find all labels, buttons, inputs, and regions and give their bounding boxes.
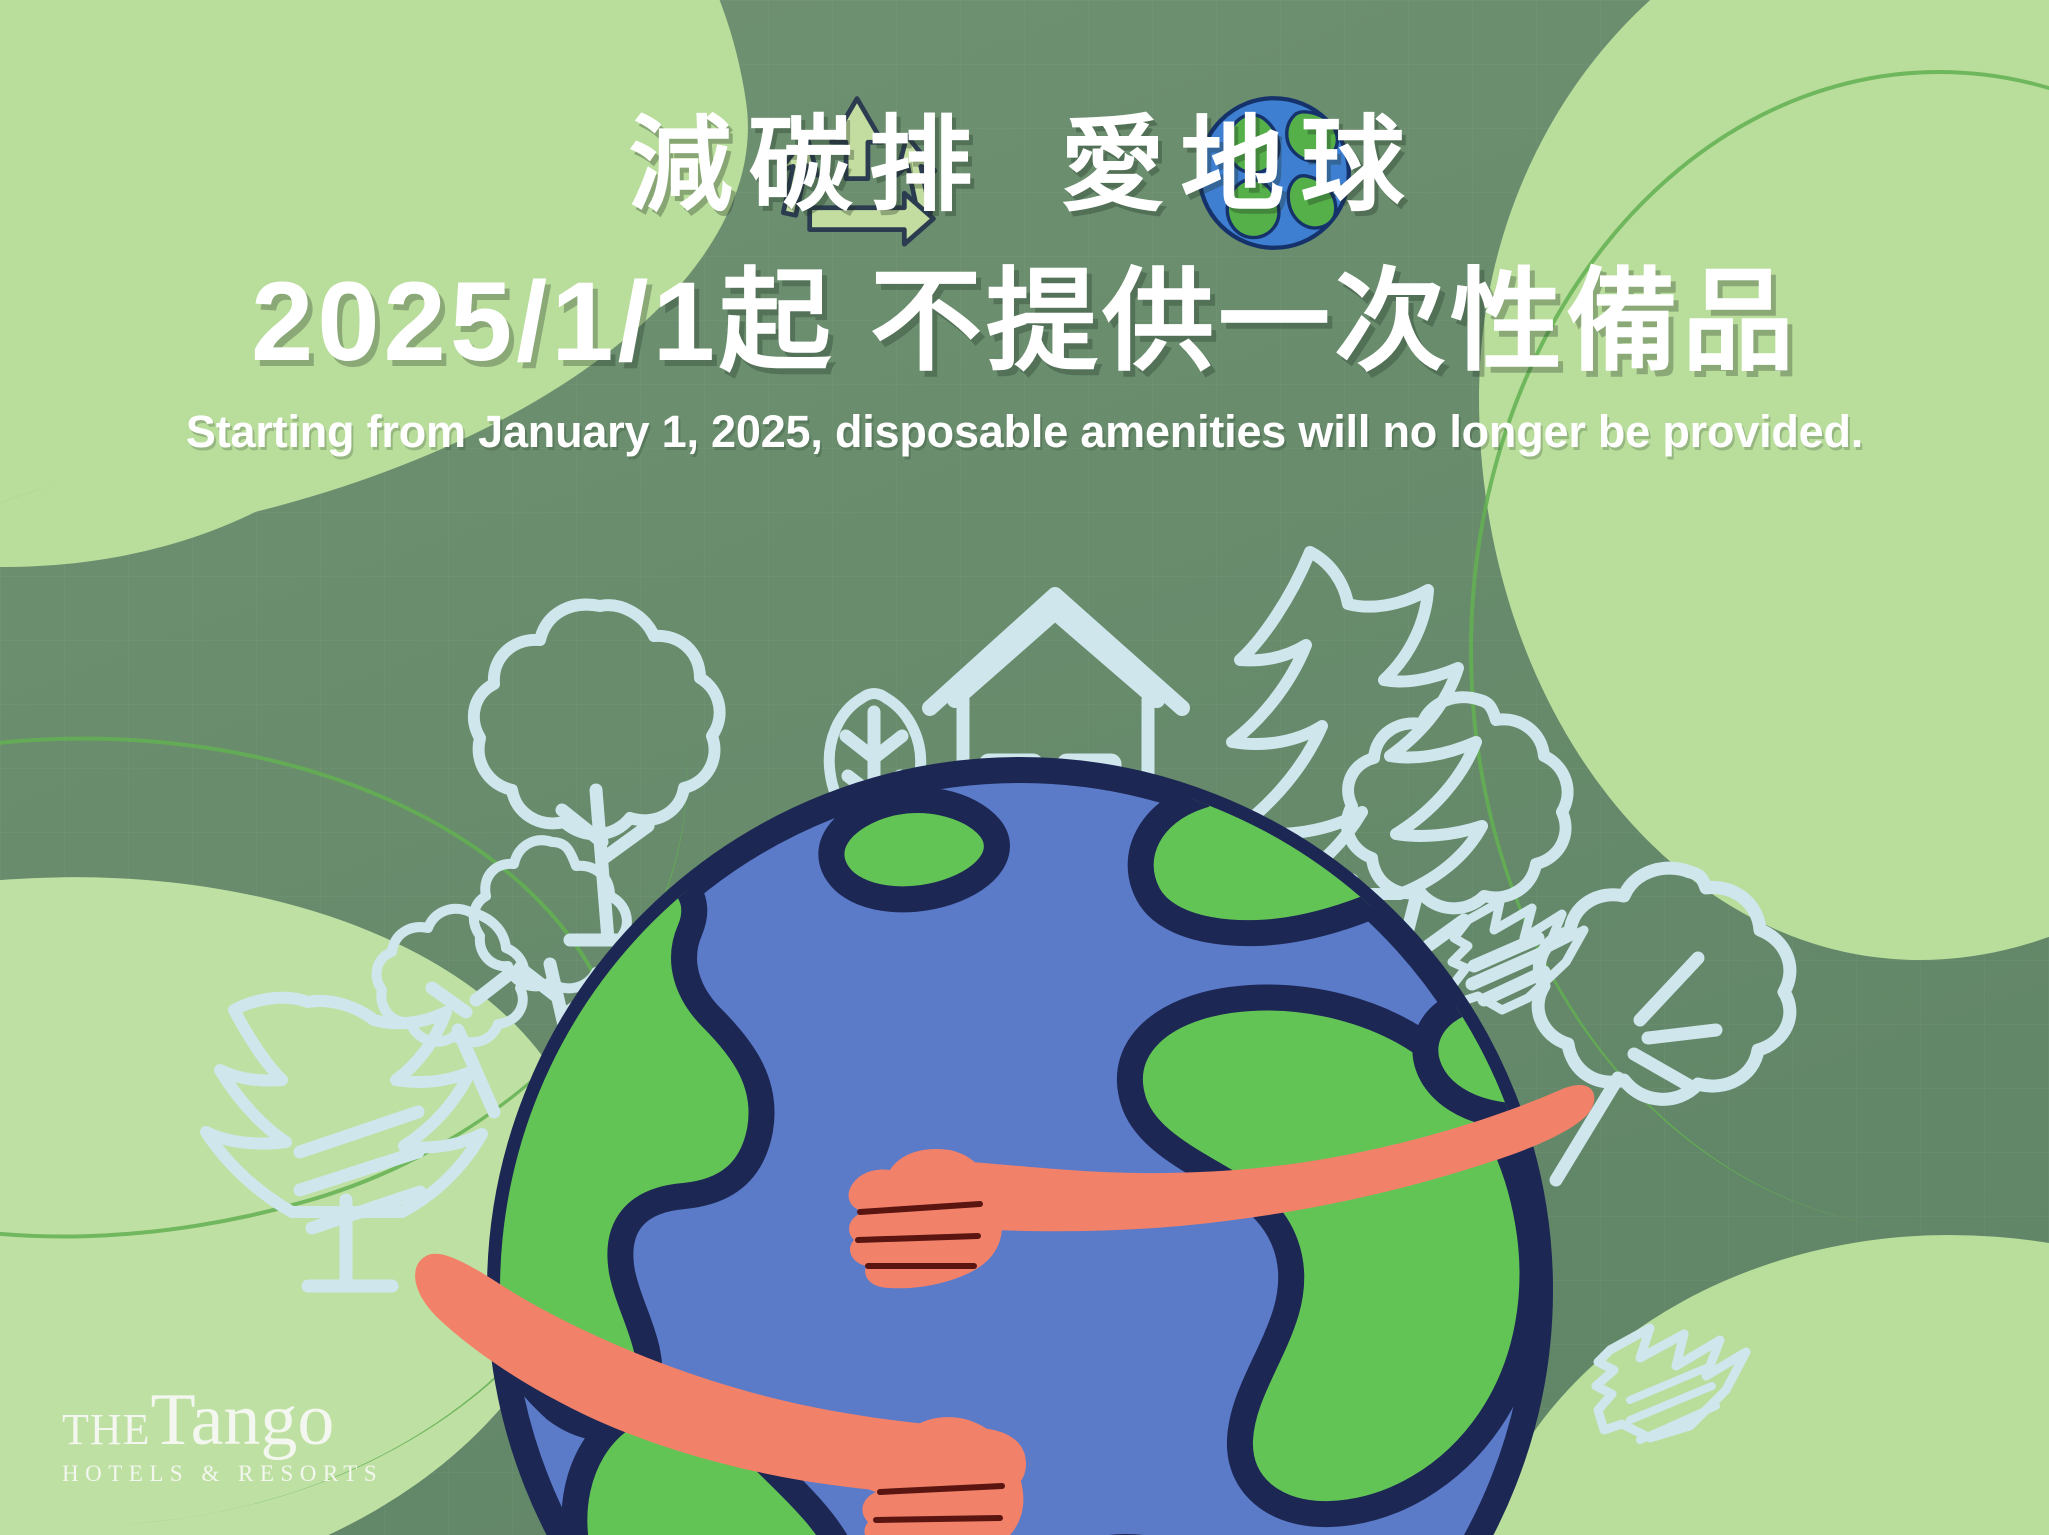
title-text-love-earth: 愛地球 <box>1061 114 1421 218</box>
logo-tagline: HOTELS & RESORTS <box>62 1461 383 1487</box>
subheadline-text: 2025/1/1起 不提供一次性備品 <box>0 264 2049 380</box>
logo-tango: Tango <box>151 1379 335 1461</box>
title-segment-love-earth: 愛地球 <box>1061 114 1421 218</box>
main-title-row: 減碳排 愛地球 <box>0 96 2049 236</box>
logo-wordmark: THETango <box>62 1384 383 1457</box>
english-notice-text: Starting from January 1, 2025, disposabl… <box>0 406 2049 458</box>
headline-block: 減碳排 愛地球 2025/1/1起 不提供一次性備品 Starting from… <box>0 0 2049 458</box>
brand-logo: THETango HOTELS & RESORTS <box>62 1384 383 1487</box>
logo-the: THE <box>62 1405 151 1454</box>
poster-root: 減碳排 愛地球 2025/1/1起 不提供一次性備品 Starting from… <box>0 0 2049 1535</box>
title-segment-reduce-carbon: 減碳排 <box>628 114 988 218</box>
title-text-reduce-carbon: 減碳排 <box>628 114 988 218</box>
